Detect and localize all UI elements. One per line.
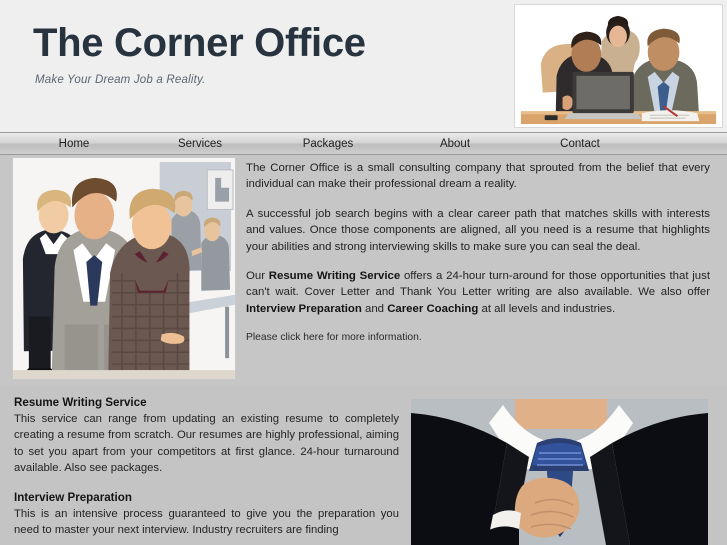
resume-writing-service-heading: Resume Writing Service <box>14 396 399 409</box>
intro-paragraph-1: The Corner Office is a small consulting … <box>246 160 710 193</box>
team-photo <box>12 157 236 380</box>
interview-preparation-emphasis: Interview Preparation <box>246 303 362 315</box>
main-navigation[interactable]: Home Services Packages About Contact <box>0 132 727 155</box>
resume-writing-service-body: This service can range from updating an … <box>14 411 399 477</box>
services-text-block: Resume Writing Service This service can … <box>14 396 399 545</box>
more-information-link[interactable]: Please click here for more information. <box>246 330 710 346</box>
nav-item-about[interactable]: About <box>410 133 500 154</box>
services-section: Resume Writing Service This service can … <box>0 386 727 545</box>
nav-item-packages[interactable]: Packages <box>282 133 374 154</box>
intro-text-block: The Corner Office is a small consulting … <box>246 160 710 360</box>
team-photo-illustration <box>13 158 235 379</box>
site-header: The Corner Office Make Your Dream Job a … <box>0 0 727 132</box>
intro-p3-text-3: and <box>362 303 387 315</box>
intro-paragraph-3: Our Resume Writing Service offers a 24-h… <box>246 268 710 317</box>
site-tagline: Make Your Dream Job a Reality. <box>35 74 205 86</box>
nav-item-contact[interactable]: Contact <box>535 133 625 154</box>
necktie-photo <box>411 399 708 545</box>
necktie-photo-illustration <box>411 399 708 545</box>
nav-list: Home Services Packages About Contact <box>0 133 727 154</box>
intro-p3-text-4: at all levels and industries. <box>478 303 615 315</box>
page-root: The Corner Office Make Your Dream Job a … <box>0 0 727 545</box>
nav-item-home[interactable]: Home <box>30 133 118 154</box>
interview-preparation-body: This is an intensive process guaranteed … <box>14 506 399 539</box>
header-photo-illustration <box>515 5 722 127</box>
resume-writing-service-emphasis: Resume Writing Service <box>269 270 400 282</box>
intro-paragraph-2: A successful job search begins with a cl… <box>246 206 710 255</box>
career-coaching-emphasis: Career Coaching <box>387 303 478 315</box>
interview-preparation-heading: Interview Preparation <box>14 491 399 504</box>
page-body: The Corner Office is a small consulting … <box>0 155 727 545</box>
intro-p3-text-1: Our <box>246 270 269 282</box>
nav-item-services[interactable]: Services <box>155 133 245 154</box>
intro-section: The Corner Office is a small consulting … <box>0 155 727 386</box>
header-photo <box>514 4 723 128</box>
page-title: The Corner Office <box>33 21 366 65</box>
